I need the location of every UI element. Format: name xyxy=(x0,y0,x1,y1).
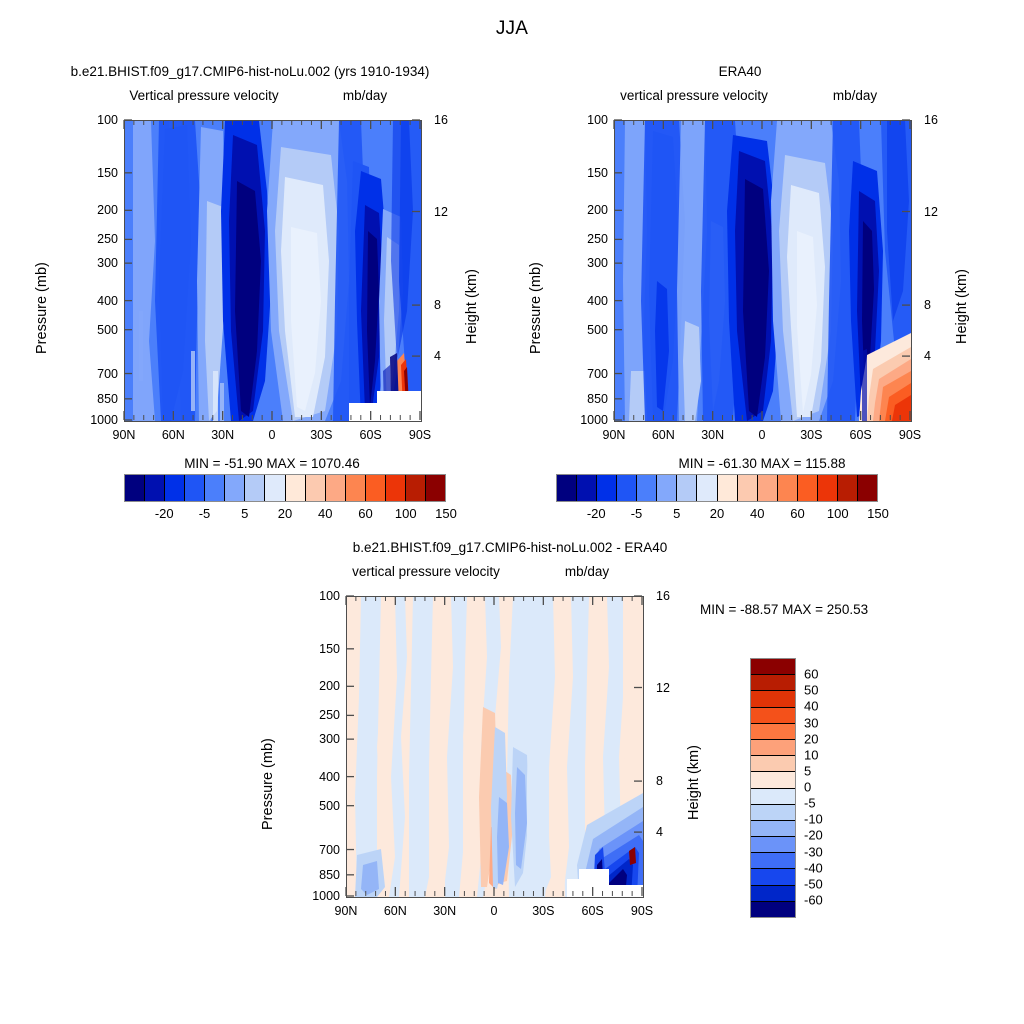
y-tick-label: 1000 xyxy=(568,413,608,427)
colorbar-tick-label: 40 xyxy=(318,506,332,521)
colorbar-cell xyxy=(597,475,617,501)
colorbar-tick-label: 0 xyxy=(804,780,811,795)
y-tick-label: 400 xyxy=(300,770,340,784)
panel-model-case-title: b.e21.BHIST.f09_g17.CMIP6-hist-noLu.002 … xyxy=(20,64,480,79)
x-tick-label: 60S xyxy=(582,904,604,918)
x-tick-label: 30N xyxy=(701,428,724,442)
y2-tick-label: 12 xyxy=(434,205,448,219)
colorbar-tick-label: 5 xyxy=(804,763,811,778)
colorbar-cell xyxy=(751,821,795,837)
colorbar-cell xyxy=(718,475,738,501)
colorbar-tick-label: 150 xyxy=(435,506,457,521)
x-tick-label: 60S xyxy=(850,428,872,442)
colorbar-tick-label: -40 xyxy=(804,860,823,875)
panel-obs: ERA40 vertical pressure velocity mb/day … xyxy=(520,64,990,504)
colorbar-model[interactable]: -20-55204060100150 xyxy=(124,474,446,502)
x-tick-label: 90S xyxy=(409,428,431,442)
x-tick-label: 90N xyxy=(335,904,358,918)
y2-tick-label: 4 xyxy=(434,349,441,363)
y-tick-label: 150 xyxy=(300,642,340,656)
colorbar-tick-label: 150 xyxy=(867,506,889,521)
y2-tick-label: 16 xyxy=(656,589,670,603)
colorbar-cell xyxy=(577,475,597,501)
y-tick-label: 100 xyxy=(300,589,340,603)
colorbar-cell xyxy=(751,789,795,805)
panel-obs-y-axis-title: Pressure (mb) xyxy=(528,262,544,354)
colorbar-cell xyxy=(205,475,225,501)
colorbar-cell xyxy=(386,475,406,501)
panel-diff-units: mb/day xyxy=(542,564,632,579)
y-tick-label: 100 xyxy=(568,113,608,127)
panel-model-var-title: Vertical pressure velocity xyxy=(104,88,304,103)
y-tick-label: 700 xyxy=(300,843,340,857)
colorbar-tick-label: -5 xyxy=(199,506,211,521)
y-tick-label: 250 xyxy=(78,232,118,246)
y-tick-label: 850 xyxy=(300,868,340,882)
colorbar-tick-label: 20 xyxy=(710,506,724,521)
colorbar-tick-label: 60 xyxy=(804,667,818,682)
colorbar-cells xyxy=(750,658,796,918)
colorbar-cell xyxy=(326,475,346,501)
colorbar-cell xyxy=(751,659,795,675)
x-tick-label: 30S xyxy=(310,428,332,442)
colorbar-cell xyxy=(366,475,386,501)
panel-model-y-axis-title: Pressure (mb) xyxy=(34,262,50,354)
main-title: JJA xyxy=(0,18,1024,40)
colorbar-cell xyxy=(617,475,637,501)
x-tick-label: 60N xyxy=(162,428,185,442)
colorbar-tick-label: 100 xyxy=(827,506,849,521)
colorbar-cell xyxy=(657,475,677,501)
y-tick-label: 200 xyxy=(78,203,118,217)
colorbar-cell xyxy=(751,869,795,885)
colorbar-cell xyxy=(751,902,795,917)
colorbar-tick-label: 100 xyxy=(395,506,417,521)
y-tick-label: 1000 xyxy=(78,413,118,427)
colorbar-cell xyxy=(165,475,185,501)
y-tick-label: 700 xyxy=(568,367,608,381)
panel-obs-y2-axis-title: Height (km) xyxy=(954,269,970,344)
colorbar-cell xyxy=(751,886,795,902)
y-tick-label: 100 xyxy=(78,113,118,127)
colorbar-cell xyxy=(225,475,245,501)
colorbar-diff[interactable]: 60504030201050-5-10-20-30-40-50-60 xyxy=(750,658,796,916)
colorbar-tick-label: -50 xyxy=(804,876,823,891)
colorbar-tick-label: -5 xyxy=(804,796,816,811)
x-tick-label: 90S xyxy=(631,904,653,918)
y-tick-label: 400 xyxy=(568,294,608,308)
y-tick-label: 500 xyxy=(568,323,608,337)
colorbar-cell xyxy=(751,675,795,691)
panel-obs-units: mb/day xyxy=(810,88,900,103)
y2-tick-label: 12 xyxy=(656,681,670,695)
y2-tick-label: 16 xyxy=(924,113,938,127)
x-tick-label: 30S xyxy=(532,904,554,918)
colorbar-cell xyxy=(798,475,818,501)
x-tick-label: 30N xyxy=(211,428,234,442)
x-tick-label: 60N xyxy=(652,428,675,442)
panel-model-contour-field xyxy=(125,121,421,421)
x-tick-label: 60N xyxy=(384,904,407,918)
colorbar-obs[interactable]: -20-55204060100150 xyxy=(556,474,878,502)
colorbar-cell xyxy=(637,475,657,501)
colorbar-cell xyxy=(751,853,795,869)
colorbar-cell xyxy=(306,475,326,501)
panel-diff-case-title: b.e21.BHIST.f09_g17.CMIP6-hist-noLu.002 … xyxy=(230,540,790,555)
colorbar-tick-label: 10 xyxy=(804,747,818,762)
panel-diff-contour-field xyxy=(347,597,643,897)
colorbar-cell xyxy=(838,475,858,501)
panel-obs-case-title: ERA40 xyxy=(520,64,960,79)
y-tick-label: 500 xyxy=(300,799,340,813)
panel-diff-y2-axis-title: Height (km) xyxy=(686,745,702,820)
colorbar-tick-label: 60 xyxy=(790,506,804,521)
colorbar-tick-label: -20 xyxy=(804,828,823,843)
colorbar-cell xyxy=(751,708,795,724)
y-tick-label: 250 xyxy=(568,232,608,246)
y-tick-label: 150 xyxy=(568,166,608,180)
colorbar-cell xyxy=(751,805,795,821)
colorbar-tick-label: 50 xyxy=(804,683,818,698)
x-tick-label: 30S xyxy=(800,428,822,442)
colorbar-tick-label: -20 xyxy=(155,506,174,521)
panel-diff-y-axis-title: Pressure (mb) xyxy=(260,738,276,830)
colorbar-cell xyxy=(751,756,795,772)
y-tick-label: 300 xyxy=(300,732,340,746)
colorbar-cell xyxy=(751,837,795,853)
panel-diff: b.e21.BHIST.f09_g17.CMIP6-hist-noLu.002 … xyxy=(230,540,800,960)
panel-diff-minmax: MIN = -88.57 MAX = 250.53 xyxy=(700,602,950,617)
x-tick-label: 90S xyxy=(899,428,921,442)
panel-diff-plot-frame xyxy=(346,596,644,898)
y-tick-label: 1000 xyxy=(300,889,340,903)
colorbar-tick-label: -60 xyxy=(804,892,823,907)
colorbar-cell xyxy=(406,475,426,501)
y-tick-label: 500 xyxy=(78,323,118,337)
colorbar-cell xyxy=(751,724,795,740)
colorbar-cell xyxy=(346,475,366,501)
panel-obs-contour-field xyxy=(615,121,911,421)
x-tick-label: 30N xyxy=(433,904,456,918)
y-tick-label: 700 xyxy=(78,367,118,381)
y-tick-label: 300 xyxy=(568,256,608,270)
colorbar-cell xyxy=(858,475,877,501)
colorbar-cell xyxy=(751,691,795,707)
colorbar-cell xyxy=(758,475,778,501)
y-tick-label: 850 xyxy=(568,392,608,406)
colorbar-tick-label: 5 xyxy=(673,506,680,521)
colorbar-cell xyxy=(125,475,145,501)
colorbar-cell xyxy=(145,475,165,501)
colorbar-cell xyxy=(738,475,758,501)
y2-tick-label: 16 xyxy=(434,113,448,127)
colorbar-cell xyxy=(677,475,697,501)
y-tick-label: 300 xyxy=(78,256,118,270)
panel-obs-var-title: vertical pressure velocity xyxy=(594,88,794,103)
y2-tick-label: 4 xyxy=(656,825,663,839)
x-tick-label: 90N xyxy=(603,428,626,442)
colorbar-tick-label: 20 xyxy=(804,731,818,746)
colorbar-tick-label: -10 xyxy=(804,812,823,827)
colorbar-cell xyxy=(818,475,838,501)
y-tick-label: 200 xyxy=(568,203,608,217)
x-tick-label: 60S xyxy=(360,428,382,442)
y2-tick-label: 8 xyxy=(434,298,441,312)
colorbar-cell xyxy=(557,475,577,501)
colorbar-cell xyxy=(751,740,795,756)
y-tick-label: 400 xyxy=(78,294,118,308)
panel-model-y2-axis-title: Height (km) xyxy=(464,269,480,344)
colorbar-tick-label: -20 xyxy=(587,506,606,521)
colorbar-tick-label: 40 xyxy=(804,699,818,714)
colorbar-cell xyxy=(697,475,717,501)
panel-model-minmax: MIN = -51.90 MAX = 1070.46 xyxy=(124,456,420,471)
colorbar-tick-label: 30 xyxy=(804,715,818,730)
colorbar-tick-label: -5 xyxy=(631,506,643,521)
y2-tick-label: 12 xyxy=(924,205,938,219)
colorbar-tick-label: 5 xyxy=(241,506,248,521)
colorbar-cell xyxy=(426,475,445,501)
panel-diff-var-title: vertical pressure velocity xyxy=(326,564,526,579)
colorbar-cell xyxy=(286,475,306,501)
colorbar-tick-label: -30 xyxy=(804,844,823,859)
colorbar-cell xyxy=(265,475,285,501)
y2-tick-label: 4 xyxy=(924,349,931,363)
panel-obs-plot-frame xyxy=(614,120,912,422)
colorbar-cell xyxy=(751,772,795,788)
y2-tick-label: 8 xyxy=(656,774,663,788)
panel-obs-minmax: MIN = -61.30 MAX = 115.88 xyxy=(614,456,910,471)
colorbar-tick-label: 40 xyxy=(750,506,764,521)
colorbar-cells xyxy=(124,474,446,502)
colorbar-cell xyxy=(185,475,205,501)
panel-model-units: mb/day xyxy=(320,88,410,103)
colorbar-cell xyxy=(778,475,798,501)
y-tick-label: 200 xyxy=(300,679,340,693)
colorbar-cells xyxy=(556,474,878,502)
panel-model: b.e21.BHIST.f09_g17.CMIP6-hist-noLu.002 … xyxy=(20,64,480,504)
colorbar-cell xyxy=(245,475,265,501)
y-tick-label: 850 xyxy=(78,392,118,406)
y2-tick-label: 8 xyxy=(924,298,931,312)
y-tick-label: 150 xyxy=(78,166,118,180)
colorbar-tick-label: 60 xyxy=(358,506,372,521)
colorbar-tick-label: 20 xyxy=(278,506,292,521)
x-tick-label: 90N xyxy=(113,428,136,442)
x-tick-label: 0 xyxy=(269,428,276,442)
y-tick-label: 250 xyxy=(300,708,340,722)
x-tick-label: 0 xyxy=(491,904,498,918)
panel-model-plot-frame xyxy=(124,120,422,422)
x-tick-label: 0 xyxy=(759,428,766,442)
